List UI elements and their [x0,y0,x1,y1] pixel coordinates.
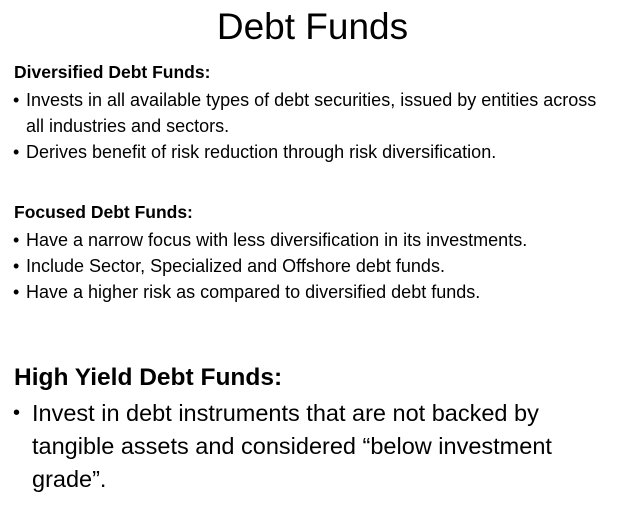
section-spacer [13,165,617,200]
bullet-list-focused: • Have a narrow focus with less diversif… [13,227,617,305]
list-item-text: Have a narrow focus with less diversific… [26,230,527,250]
bullet-dot-icon: • [13,227,19,253]
list-item: • Invest in debt instruments that are no… [13,397,617,496]
section-heading-high-yield: High Yield Debt Funds: [14,362,617,393]
section-heading-diversified: Diversified Debt Funds: [14,60,617,84]
bullet-dot-icon: • [13,139,19,165]
bullet-dot-icon: • [13,87,19,113]
list-item: • Have a higher risk as compared to dive… [13,279,617,305]
page-title: Debt Funds [0,5,625,49]
list-item: • Invests in all available types of debt… [13,87,617,139]
bullet-list-diversified: • Invests in all available types of debt… [13,87,617,165]
section-diversified-debt-funds: Diversified Debt Funds: • Invests in all… [13,60,617,165]
list-item: • Have a narrow focus with less diversif… [13,227,617,253]
bullet-dot-icon: • [13,253,19,279]
list-item-text: Have a higher risk as compared to divers… [26,282,480,302]
list-item: • Include Sector, Specialized and Offsho… [13,253,617,279]
section-focused-debt-funds: Focused Debt Funds: • Have a narrow focu… [13,200,617,305]
list-item: • Derives benefit of risk reduction thro… [13,139,617,165]
list-item-text: Include Sector, Specialized and Offshore… [26,256,445,276]
list-item-text: Invests in all available types of debt s… [26,90,596,136]
section-high-yield-debt-funds: High Yield Debt Funds: • Invest in debt … [13,362,617,496]
list-item-text: Derives benefit of risk reduction throug… [26,142,496,162]
slide-canvas: Debt Funds Diversified Debt Funds: • Inv… [0,0,625,511]
list-item-text: Invest in debt instruments that are not … [32,400,552,492]
section-spacer [13,305,617,362]
slide-body: Diversified Debt Funds: • Invests in all… [13,60,617,496]
bullet-dot-icon: • [13,279,19,305]
bullet-dot-icon: • [13,397,20,430]
section-heading-focused: Focused Debt Funds: [14,200,617,224]
bullet-list-high-yield: • Invest in debt instruments that are no… [13,397,617,496]
